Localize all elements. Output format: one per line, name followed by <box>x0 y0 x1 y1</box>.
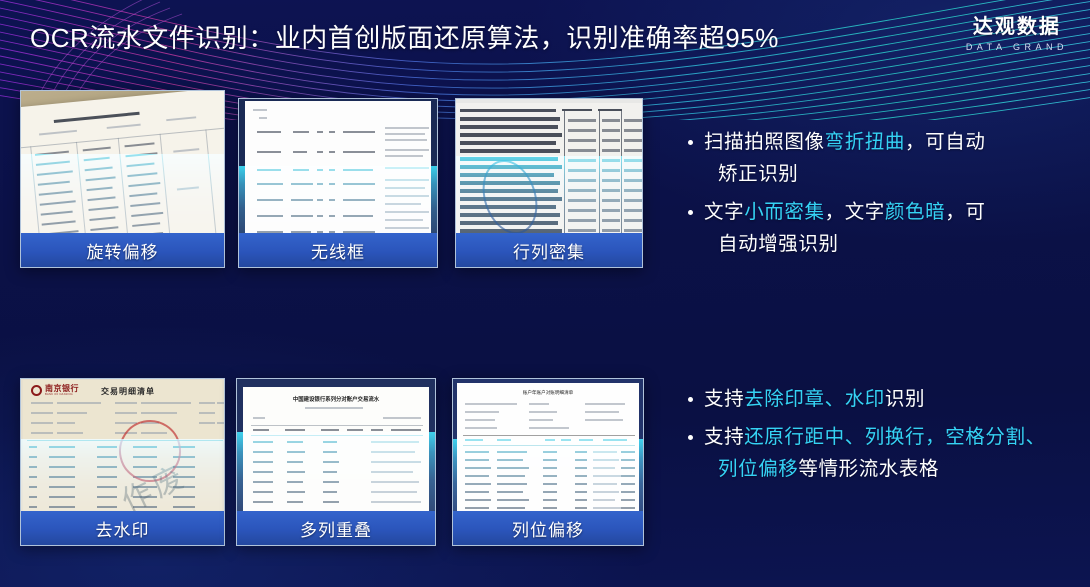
plain-text: 矫正识别 <box>718 163 798 185</box>
highlight-text: 列位偏移 <box>718 458 798 480</box>
bullet-line-2: 矫正识别 <box>704 158 1066 190</box>
sample-card-remove-watermark[interactable]: 南京银行 BANK OF NANJING 交易明细清单 <box>20 378 225 546</box>
card-caption: 行列密集 <box>456 233 642 267</box>
highlight-text: 去除印章、水印 <box>744 388 885 410</box>
slide-canvas: OCR流水文件识别：业内首创版面还原算法，识别准确率超95% 达观数据 DATA… <box>0 0 1090 587</box>
card-caption: 列位偏移 <box>453 511 643 545</box>
logo-text-cn: 达观数据 <box>966 10 1068 39</box>
logo-text-en: DATA GRAND <box>966 42 1068 52</box>
highlight-text: 小而密集 <box>744 201 824 223</box>
feature-list-top: 扫描拍照图像弯折扭曲，可自动矫正识别文字小而密集，文字颜色暗，可自动增强识别 <box>686 126 1066 266</box>
card-caption: 旋转偏移 <box>21 233 224 267</box>
sample-card-overlapping-cols[interactable]: 中国建设银行系列分对账户交易流水 <box>236 378 436 546</box>
feature-list-bottom: 支持去除印章、水印识别支持还原行距中、列换行，空格分割、列位偏移等情形流水表格 <box>686 383 1076 491</box>
highlight-text: 颜色暗 <box>885 201 945 223</box>
page-title: OCR流水文件识别：业内首创版面还原算法，识别准确率超95% <box>30 18 779 55</box>
sample-card-rotation-offset[interactable]: 旋转偏移 <box>20 90 225 268</box>
plain-text: 支持 <box>704 388 744 410</box>
plain-text: 文字 <box>704 201 744 223</box>
plain-text: 识别 <box>885 388 925 410</box>
bullet-line-2: 列位偏移等情形流水表格 <box>704 453 1076 485</box>
feature-bullet-top-1: 文字小而密集，文字颜色暗，可自动增强识别 <box>686 196 1066 260</box>
sample-card-column-shift[interactable]: 账户年账户对账明细清单 <box>452 378 644 546</box>
plain-text: 自动增强识别 <box>718 233 839 255</box>
card-caption: 去水印 <box>21 511 224 545</box>
card-caption: 无线框 <box>239 233 437 267</box>
card-caption: 多列重叠 <box>237 511 435 545</box>
plain-text: ，可 <box>945 201 985 223</box>
plain-text: 扫描拍照图像 <box>704 131 825 153</box>
sample-card-dense-rows-cols[interactable]: 行列密集 <box>455 98 643 268</box>
feature-bullet-bottom-0: 支持去除印章、水印识别 <box>686 383 1076 415</box>
highlight-text: 弯折扭曲 <box>825 131 905 153</box>
brand-logo: 达观数据 DATA GRAND <box>966 10 1068 52</box>
feature-bullet-top-0: 扫描拍照图像弯折扭曲，可自动矫正识别 <box>686 126 1066 190</box>
feature-bullet-bottom-1: 支持还原行距中、列换行，空格分割、列位偏移等情形流水表格 <box>686 421 1076 485</box>
plain-text: ，可自动 <box>905 131 985 153</box>
highlight-text: 还原行距中、列换行，空格分割、 <box>744 426 1046 448</box>
plain-text: ，文字 <box>825 201 885 223</box>
bullet-line-2: 自动增强识别 <box>704 228 1066 260</box>
sample-card-borderless-table[interactable]: 无线框 <box>238 98 438 268</box>
plain-text: 支持 <box>704 426 744 448</box>
plain-text: 等情形流水表格 <box>798 458 939 480</box>
